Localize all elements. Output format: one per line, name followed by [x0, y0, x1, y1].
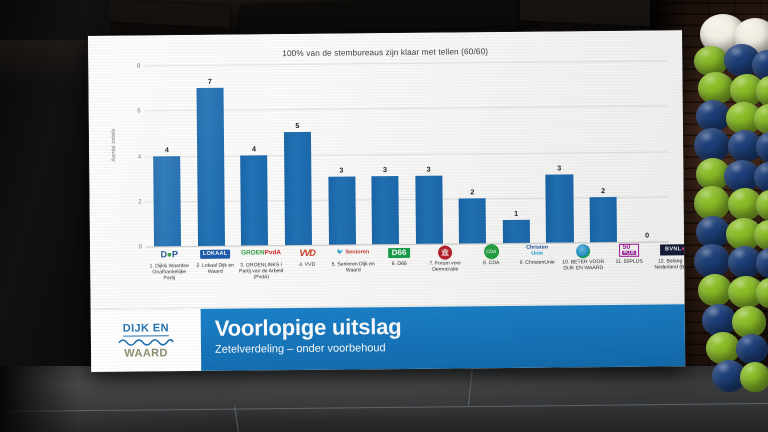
- slide-banner: DIJK EN WAARD Voorlopige uitslag Zetelve…: [91, 304, 686, 372]
- bar[interactable]: [415, 176, 443, 244]
- projection-screen: 100% van de stembureaus zijn klaar met t…: [88, 30, 685, 372]
- y-tick-label: 8: [122, 62, 140, 69]
- balloon: [694, 244, 730, 278]
- bvnl-logo: BVNL■: [660, 242, 685, 257]
- x-axis-label: 10. BETER VOOR DIJK EN WAARD: [560, 259, 606, 272]
- y-tick-label: 0: [124, 243, 142, 250]
- banner-subheading: Zetelverdeling – onder voorbehoud: [215, 338, 685, 357]
- x-axis-label: 6. D66: [376, 261, 422, 268]
- bar-value-label: 2: [581, 186, 625, 195]
- banner-text-block: Voorlopige uitslag Zetelverdeling – onde…: [201, 304, 686, 371]
- senioren-dijk-en-waard-logo: 🐦 Senioren: [337, 245, 370, 260]
- balloon: [702, 304, 736, 336]
- dijk-en-waard-logo: DIJK EN WAARD: [91, 309, 202, 372]
- beter-voor-dijk-en-waard-logo: [576, 243, 590, 258]
- bar[interactable]: [459, 198, 486, 244]
- x-axis-category: 🐦 Senioren5. Senioren Dijk en Waard: [330, 245, 377, 301]
- chart-plot-area: Aantal zetels 02468 474533321320: [122, 60, 669, 247]
- balloon: [698, 72, 734, 104]
- x-axis-category: CDA8. CDA: [468, 244, 515, 300]
- y-tick-label: 2: [124, 198, 142, 205]
- balloon: [736, 334, 768, 364]
- lokaal-dijk-en-waard-logo: LOKAAL: [200, 247, 231, 262]
- balloon: [698, 274, 732, 306]
- stage-floor: [0, 366, 768, 432]
- bar-value-label: 3: [537, 163, 581, 172]
- banner-heading: Voorlopige uitslag: [215, 311, 685, 341]
- balloon: [740, 362, 768, 392]
- groenlinks-pvda-logo: GROENPvdA: [241, 246, 281, 261]
- dwop-logo: D●P: [161, 247, 178, 262]
- x-axis-label: 7. Forum voor Democratie: [422, 260, 468, 273]
- x-axis-category: BVNL■12. Belang Van Nederland (BVNL): [652, 242, 685, 298]
- bar-column[interactable]: 3: [406, 63, 451, 244]
- x-axis-label: 2. Lokaal Dijk en Waard: [192, 263, 238, 276]
- slide-body: 100% van de stembureaus zijn klaar met t…: [88, 30, 685, 308]
- chart-title: 100% van de stembureaus zijn klaar met t…: [88, 44, 682, 60]
- bar-value-label: 2: [451, 187, 495, 196]
- bar-value-label: 3: [363, 165, 407, 174]
- bar-column[interactable]: 4: [144, 65, 189, 246]
- cda-logo: CDA: [484, 244, 499, 259]
- x-axis-label: 12. Belang Van Nederland (BVNL): [652, 258, 685, 271]
- bar[interactable]: [241, 155, 269, 246]
- bar[interactable]: [546, 174, 574, 242]
- bar-value-label: 5: [276, 121, 320, 130]
- bar-value-label: 4: [232, 144, 276, 153]
- vvd-logo: VVD: [299, 246, 315, 261]
- x-axis-label: 4. VVD: [284, 262, 330, 269]
- bar-column[interactable]: 3: [362, 63, 407, 244]
- bar-column[interactable]: 5: [275, 64, 320, 245]
- bar-column[interactable]: 2: [580, 61, 625, 242]
- bar-column[interactable]: 3: [319, 63, 364, 244]
- wave-icon: [118, 337, 174, 347]
- balloon: [706, 332, 740, 364]
- christenunie-logo: ChristenUnie: [526, 244, 548, 259]
- fvd-logo: 🏛: [438, 245, 452, 260]
- bar-column[interactable]: 1: [493, 62, 538, 243]
- y-axis-label: Aantal zetels: [111, 129, 117, 162]
- x-axis-category: ChristenUnie9. ChristenUnie: [514, 243, 561, 299]
- bar[interactable]: [153, 156, 181, 247]
- floor-shadow: [0, 366, 78, 432]
- x-axis-label: 11. 50PLUS: [606, 259, 652, 266]
- x-axis-category: GROENPvdA3. GROENLINKS / Partij van de A…: [238, 246, 285, 302]
- balloon: [694, 128, 730, 162]
- bar[interactable]: [284, 132, 312, 245]
- bar-value-label: 7: [188, 76, 232, 85]
- bar[interactable]: [503, 220, 530, 243]
- y-tick-label: 4: [123, 153, 141, 160]
- x-axis-label: 3. GROENLINKS / Partij van de Arbeid (Pv…: [238, 262, 284, 281]
- balloon: [694, 186, 730, 220]
- x-axis-category: VVD4. VVD: [284, 246, 331, 302]
- bar-value-label: 1: [494, 209, 538, 218]
- bar-value-label: 0: [625, 230, 669, 239]
- bar-column[interactable]: 2: [449, 62, 494, 243]
- x-axis-label: 9. ChristenUnie: [514, 259, 560, 266]
- bar-value-label: 3: [407, 165, 451, 174]
- balloon-column: [672, 14, 768, 432]
- logo-line-2: WAARD: [124, 347, 168, 359]
- bar-column[interactable]: 7: [188, 65, 233, 246]
- logo-line-1: DIJK EN: [123, 322, 169, 336]
- x-axis-category: 10. BETER VOOR DIJK EN WAARD: [560, 243, 607, 299]
- 50plus-logo: 50PLUS: [619, 243, 638, 258]
- x-axis-category: 🏛7. Forum voor Democratie: [422, 244, 469, 300]
- x-axis-category: 50PLUS11. 50PLUS: [606, 243, 653, 299]
- bar[interactable]: [196, 87, 225, 246]
- bar[interactable]: [372, 176, 400, 244]
- bar[interactable]: [328, 177, 356, 245]
- x-axis-label: 5. Senioren Dijk en Waard: [330, 261, 376, 274]
- bar-value-label: 4: [145, 145, 189, 154]
- bar[interactable]: [590, 197, 617, 243]
- d66-logo: D66: [388, 245, 411, 260]
- x-axis-category: D666. D66: [376, 245, 423, 301]
- x-axis-categories: D●P1. Dijk& Waardse Onafhankelijke Parti…: [146, 242, 670, 303]
- bar-value-label: 3: [320, 165, 364, 174]
- x-axis-category: LOKAAL2. Lokaal Dijk en Waard: [192, 247, 239, 303]
- bar-column[interactable]: 4: [231, 64, 276, 245]
- x-axis-category: D●P1. Dijk& Waardse Onafhankelijke Parti…: [146, 247, 193, 303]
- bar-column[interactable]: 3: [536, 61, 581, 242]
- x-axis-label: 8. CDA: [468, 260, 514, 267]
- bar-series: 474533321320: [144, 60, 669, 246]
- x-axis-label: 1. Dijk& Waardse Onafhankelijke Partij: [146, 263, 192, 282]
- y-tick-label: 6: [123, 108, 141, 115]
- bar-column[interactable]: 0: [624, 60, 669, 241]
